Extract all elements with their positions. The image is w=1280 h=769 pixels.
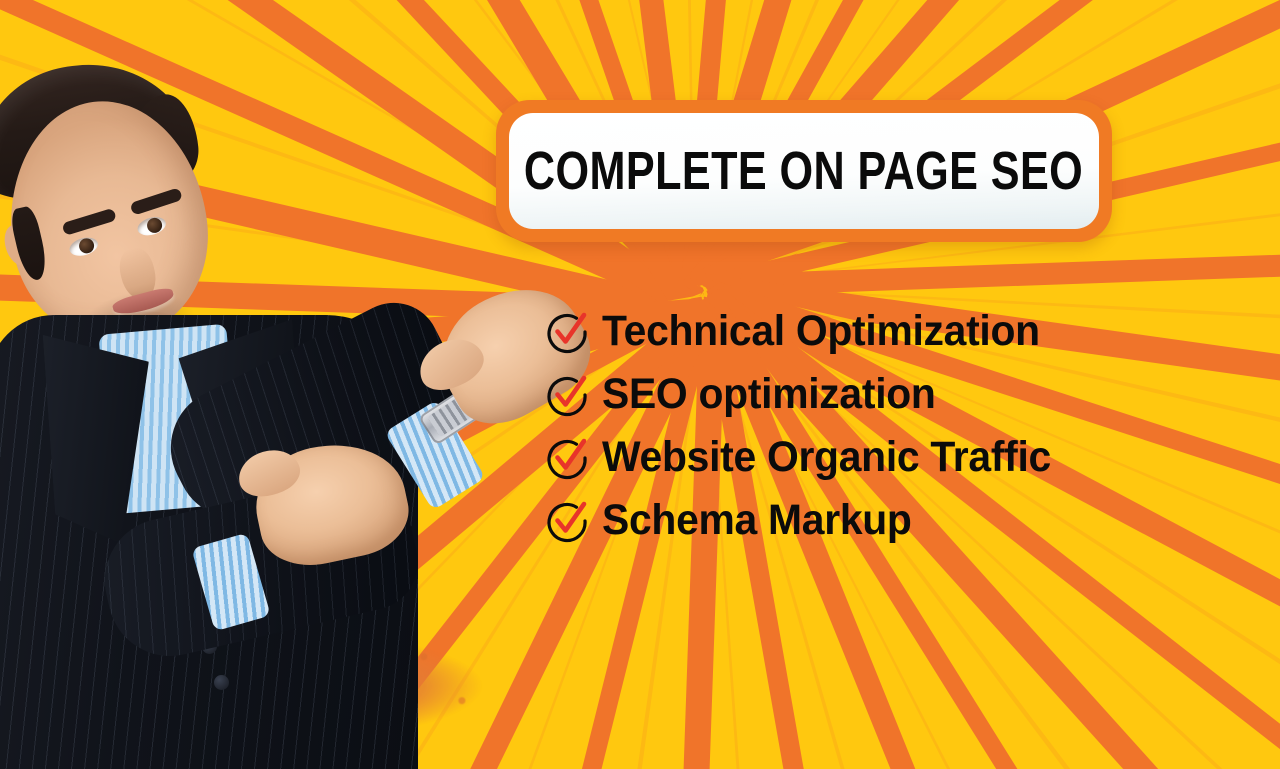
jacket-button bbox=[214, 675, 229, 690]
feature-item: Technical Optimization bbox=[546, 300, 1075, 363]
check-circle-icon bbox=[546, 500, 588, 542]
check-circle-icon bbox=[546, 374, 588, 416]
check-circle-icon bbox=[546, 311, 588, 353]
feature-label: Schema Markup bbox=[602, 499, 912, 542]
feature-list: Technical OptimizationSEO optimizationWe… bbox=[546, 300, 1075, 552]
title-card-inner: COMPLETE ON PAGE SEO bbox=[509, 113, 1099, 229]
eyebrow-left bbox=[61, 208, 116, 236]
feature-item: Schema Markup bbox=[546, 489, 1075, 552]
feature-item: SEO optimization bbox=[546, 363, 1075, 426]
eyebrow-right bbox=[129, 187, 182, 215]
presenting-businessman-photo bbox=[0, 79, 458, 769]
check-circle-icon bbox=[546, 437, 588, 479]
eye-right bbox=[135, 214, 168, 238]
page-title: COMPLETE ON PAGE SEO bbox=[524, 144, 1083, 198]
seo-service-banner: COMPLETE ON PAGE SEO Technical Optimizat… bbox=[0, 0, 1280, 769]
feature-label: Technical Optimization bbox=[602, 310, 1040, 353]
title-card: COMPLETE ON PAGE SEO bbox=[496, 100, 1112, 242]
feature-label: SEO optimization bbox=[602, 373, 936, 416]
feature-item: Website Organic Traffic bbox=[546, 426, 1075, 489]
feature-label: Website Organic Traffic bbox=[602, 436, 1051, 479]
